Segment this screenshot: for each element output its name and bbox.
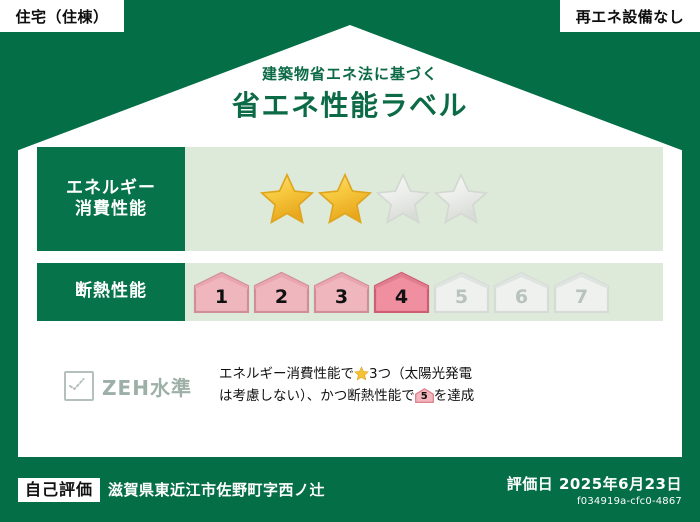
insulation-level-6: 6	[493, 271, 550, 313]
insulation-level-4: 4	[373, 271, 430, 313]
energy-performance-label: 住宅（住棟） 再エネ設備なし 建築物省エネ法に基づく 省エネ性能ラベル エネルギ…	[0, 0, 700, 522]
tag-renewable-energy-label: 再エネ設備なし	[576, 6, 685, 27]
insulation-level-5: 5	[433, 271, 490, 313]
insulation-level-value: 2	[275, 286, 288, 313]
energy-consumption-label: エネルギー 消費性能	[37, 147, 185, 251]
insulation-level-scale: 1234567	[193, 271, 610, 313]
label-subtitle: 建築物省エネ法に基づく	[0, 63, 700, 84]
star-filled-icon	[259, 171, 315, 227]
insulation-level-value: 6	[515, 286, 528, 313]
energy-consumption-row: エネルギー 消費性能	[37, 147, 663, 251]
note-part2: 3つ（太陽光発電	[369, 366, 472, 382]
insulation-value: 1234567	[185, 263, 663, 321]
star-filled-icon	[317, 171, 373, 227]
insulation-level-value: 7	[575, 286, 588, 313]
evaluation-date: 評価日 2025年6月23日	[507, 473, 682, 494]
star-empty-icon	[375, 171, 431, 227]
footer-left: 自己評価 滋賀県東近江市佐野町字西ノ辻	[18, 478, 507, 503]
tag-building-type-label: 住宅（住棟）	[15, 6, 108, 27]
evaluation-id: f034919a-cfc0-4867	[507, 496, 682, 507]
note-part3: は考慮しない）、かつ断熱性能で	[219, 388, 415, 404]
zeh-standard-label: ZEH水準	[102, 372, 192, 401]
insulation-level-value: 1	[215, 286, 228, 313]
insulation-level-value: 3	[335, 286, 348, 313]
star-empty-icon	[433, 171, 489, 227]
tag-building-type: 住宅（住棟）	[0, 0, 124, 32]
tag-renewable-energy: 再エネ設備なし	[560, 0, 700, 32]
star-icon	[354, 366, 369, 381]
footer-right: 評価日 2025年6月23日 f034919a-cfc0-4867	[507, 473, 682, 507]
note-part1: エネルギー消費性能で	[219, 366, 354, 382]
self-evaluation-badge: 自己評価	[18, 478, 100, 503]
zeh-standard-block: ZEH水準	[37, 371, 219, 401]
evaluation-date-label: 評価日	[507, 475, 554, 493]
zeh-note-section: ZEH水準 エネルギー消費性能で 3つ（太陽光発電 は考慮しない）、かつ断熱性能…	[37, 358, 663, 414]
insulation-level-2: 2	[253, 271, 310, 313]
insulation-level-1: 1	[193, 271, 250, 313]
insulation-level-badge-inline: 5	[415, 388, 434, 403]
note-part4: を達成	[434, 388, 475, 404]
footer: 自己評価 滋賀県東近江市佐野町字西ノ辻 評価日 2025年6月23日 f0349…	[18, 468, 682, 512]
zeh-check-icon	[64, 371, 94, 401]
achievement-note: エネルギー消費性能で 3つ（太陽光発電 は考慮しない）、かつ断熱性能で 5 を達…	[219, 364, 663, 407]
insulation-label: 断熱性能	[37, 263, 185, 321]
insulation-level-3: 3	[313, 271, 370, 313]
evaluation-date-value: 2025年6月23日	[559, 475, 682, 493]
energy-label-line1: エネルギー	[66, 178, 156, 199]
star-rating	[259, 171, 489, 227]
insulation-level-value: 5	[455, 286, 468, 313]
property-address: 滋賀県東近江市佐野町字西ノ辻	[108, 479, 325, 500]
insulation-row: 断熱性能 1234567	[37, 263, 663, 321]
insulation-level-value: 4	[395, 286, 408, 313]
page-title: 省エネ性能ラベル	[0, 84, 700, 124]
energy-label-line2: 消費性能	[66, 199, 156, 220]
energy-consumption-value	[185, 147, 663, 251]
insulation-level-7: 7	[553, 271, 610, 313]
insulation-level-badge-inline-value: 5	[415, 388, 434, 403]
